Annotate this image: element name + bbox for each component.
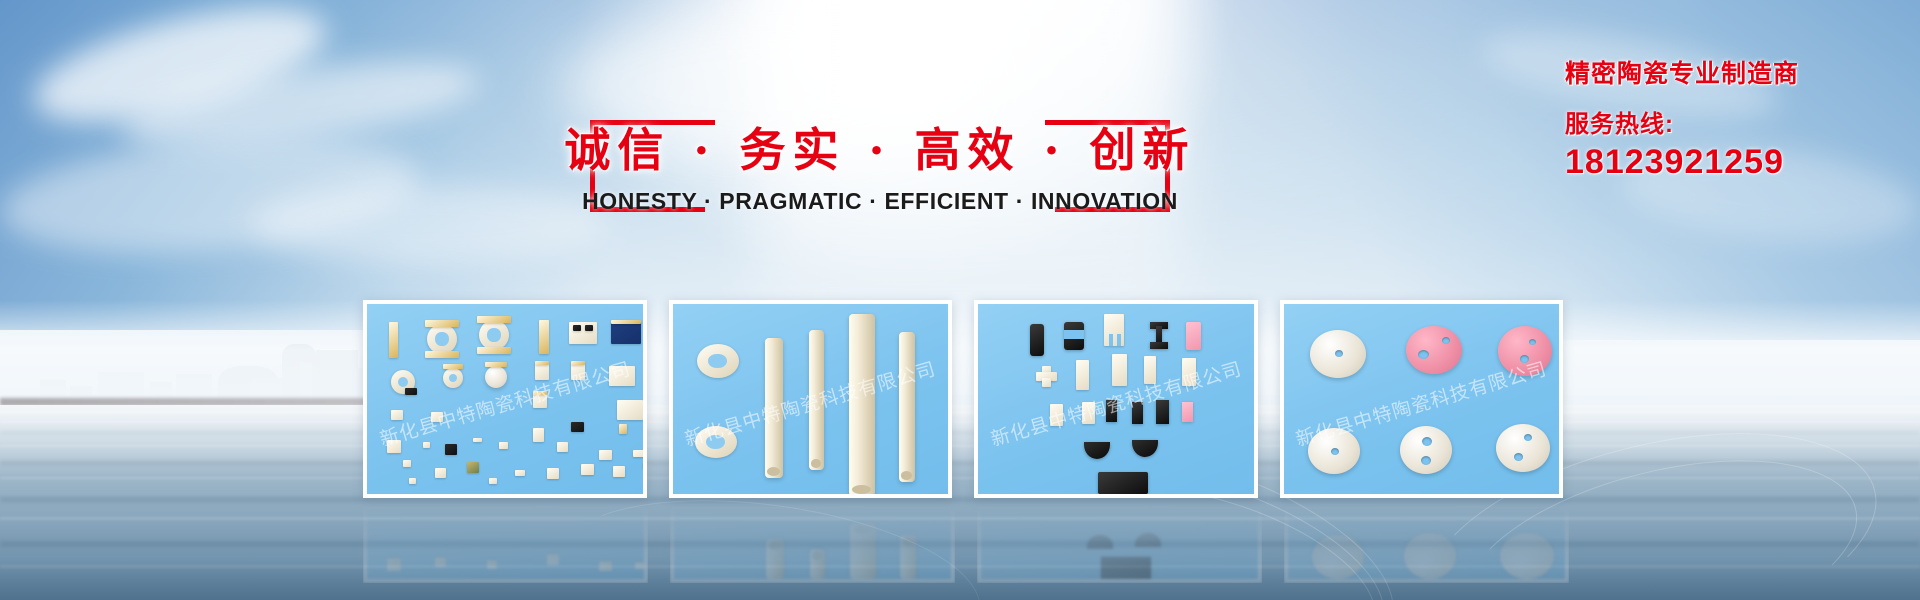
- product-panel-1-image: 新化县中特陶瓷科技有限公司: [367, 304, 643, 494]
- product-panel-4-image: 新化县中特陶瓷科技有限公司: [1284, 304, 1560, 494]
- company-tagline: 精密陶瓷专业制造商: [1565, 54, 1910, 90]
- slogan-english: HONESTY · PRAGMATIC · EFFICIENT · INNOVA…: [470, 188, 1290, 215]
- hotline-label: 服务热线:: [1565, 104, 1910, 139]
- panel-2-reflection: [670, 505, 955, 583]
- product-panel-4[interactable]: 新化县中特陶瓷科技有限公司: [1280, 300, 1564, 498]
- product-panel-2[interactable]: 新化县中特陶瓷科技有限公司: [669, 300, 953, 498]
- foreground-shade: [0, 560, 1920, 600]
- contact-block: 精密陶瓷专业制造商 服务热线: 18123921259: [1565, 54, 1910, 182]
- product-panel-3[interactable]: 新化县中特陶瓷科技有限公司: [974, 300, 1258, 498]
- slogan-chinese: 诚信 · 务实 · 高效 · 创新: [470, 114, 1290, 180]
- panel-4-reflection: [1284, 505, 1569, 583]
- product-panel-3-image: 新化县中特陶瓷科技有限公司: [978, 304, 1254, 494]
- product-panel-2-image: 新化县中特陶瓷科技有限公司: [673, 304, 949, 494]
- product-panel-row: 新化县中特陶瓷科技有限公司 新化县中特陶瓷科技有限公司: [363, 300, 1563, 498]
- slogan-block: 诚信 · 务实 · 高效 · 创新 HONESTY · PRAGMATIC · …: [470, 120, 1290, 230]
- panel-3-reflection: [977, 505, 1262, 583]
- hero-banner: 诚信 · 务实 · 高效 · 创新 HONESTY · PRAGMATIC · …: [0, 0, 1920, 600]
- hotline-number[interactable]: 18123921259: [1565, 143, 1910, 182]
- panel-1-reflection: [363, 505, 648, 583]
- product-panel-1[interactable]: 新化县中特陶瓷科技有限公司: [363, 300, 647, 498]
